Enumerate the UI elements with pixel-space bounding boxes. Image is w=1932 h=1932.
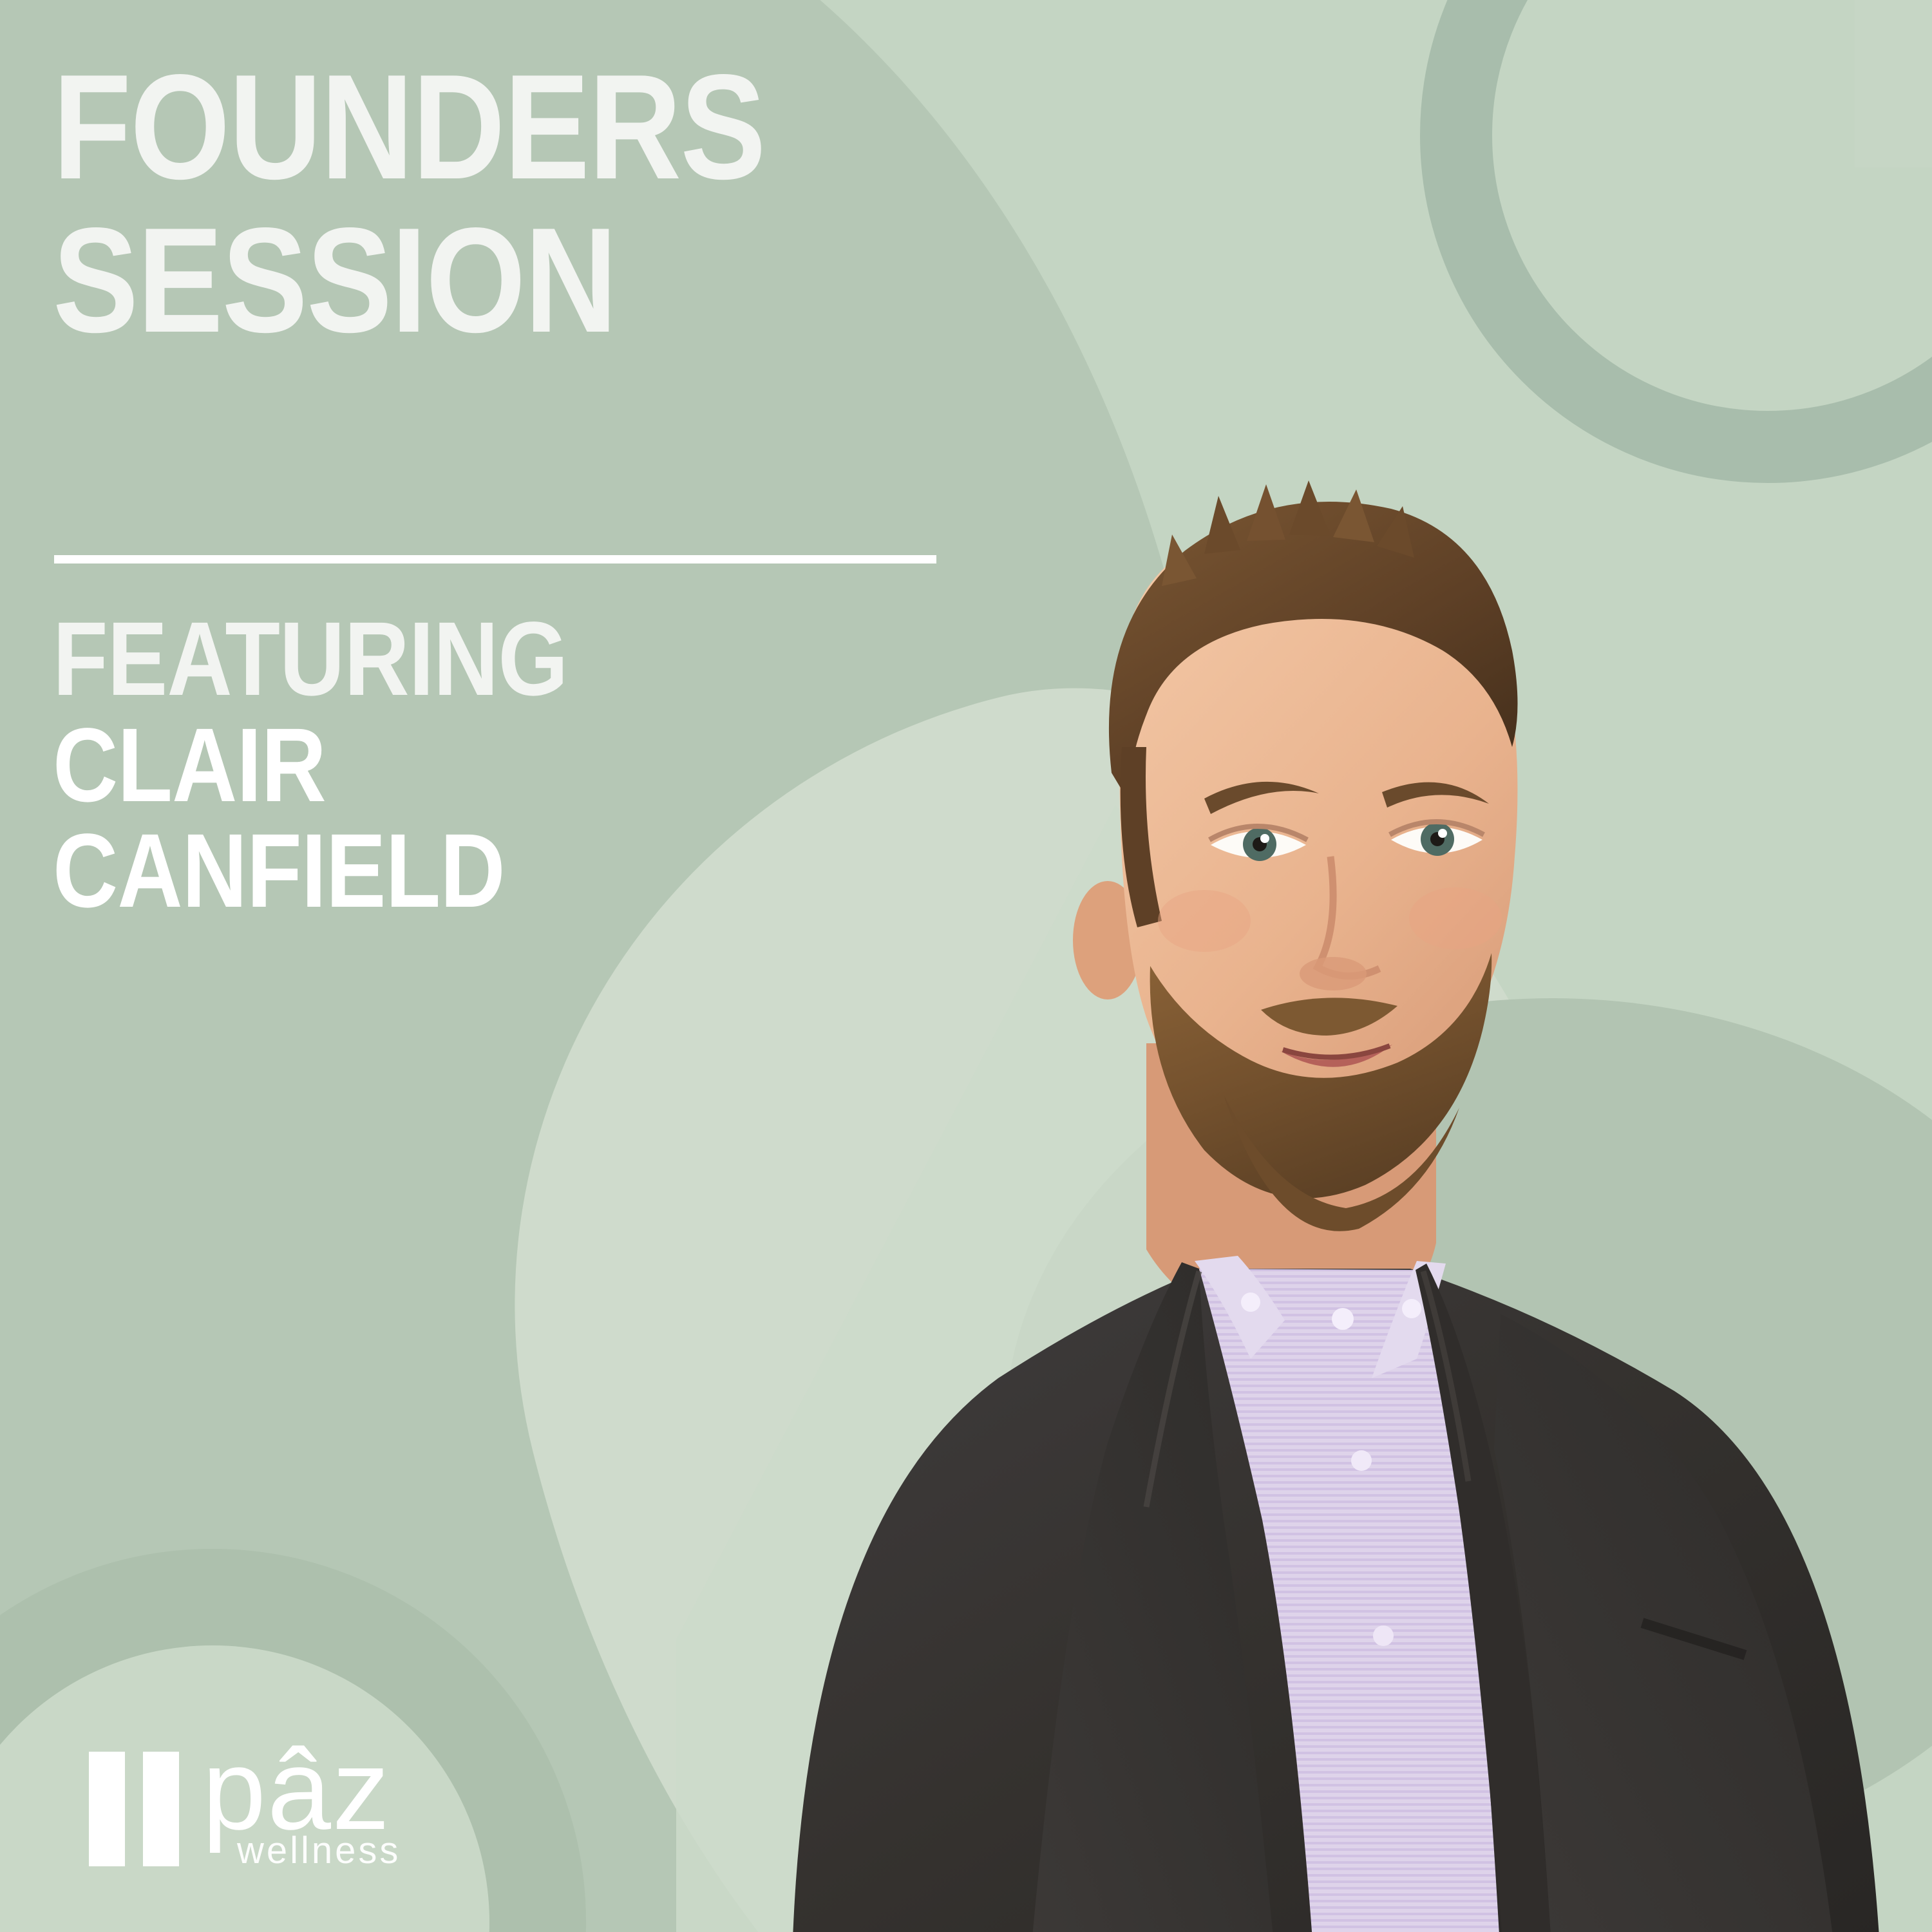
logo-tagline: wellness	[237, 1829, 401, 1872]
headline-block: FOUNDERS SESSION	[53, 62, 1057, 346]
subhead-featuring-label: FEATURING	[53, 612, 828, 706]
podcast-cover-poster: FOUNDERS SESSION FEATURING CLAIR CANFIEL…	[0, 0, 1932, 1932]
speaker-last-name: CANFIELD	[53, 824, 828, 918]
paz-wellness-logo: pâz wellness	[89, 1747, 401, 1872]
background-ring-crop-mask	[1855, 0, 1932, 167]
headline-line-1: FOUNDERS	[53, 62, 917, 193]
logo-bar-left	[89, 1752, 125, 1866]
logo-bar-right	[143, 1752, 179, 1866]
title-divider	[54, 555, 936, 563]
logo-wordmark-group: pâz wellness	[202, 1747, 401, 1872]
headline-line-2: SESSION	[53, 215, 917, 346]
subhead-block: FEATURING CLAIR CANFIELD	[53, 612, 954, 918]
logo-bars-icon	[89, 1752, 179, 1866]
speaker-first-name: CLAIR	[53, 718, 828, 813]
